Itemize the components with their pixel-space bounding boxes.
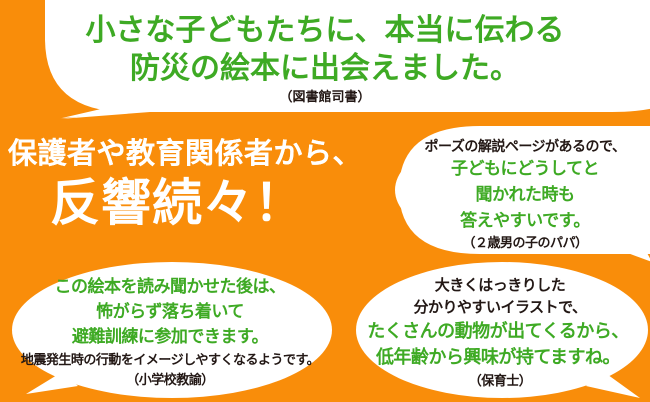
testimonial-right-line-2: 子どもにどうしてと [400,160,650,177]
testimonial-bottom-left-line-2: 怖がらず落ち着いて [10,303,330,320]
testimonial-bottom-left-line-3: 避難訓練に参加できます。 [10,328,330,345]
testimonial-right-line-3: 聞かれた時も [400,186,650,203]
testimonial-top-attribution: （図書館司書） [0,90,650,103]
testimonial-right-line-1: ポーズの解説ページがあるので、 [400,139,650,153]
testimonial-bottom-left-line-1: この絵本を読み聞かせた後は、 [10,278,330,295]
testimonial-bottom-left-attribution: （小学校教諭） [10,373,330,386]
testimonial-right-line-4: 答えやすいです。 [400,212,650,229]
testimonial-bottom-left-line-4: 地震発生時の行動をイメージしやすくなるようです。 [10,353,330,366]
testimonial-bottom-right-line-2: 分かりやすいイラストで、 [355,300,645,315]
testimonial-top-line-1: 小さな子どもたちに、本当に伝わる [0,16,650,46]
testimonial-bottom-right-line-1: 大きくはっきりした [355,278,645,293]
testimonial-bottom-right-line-3: たくさんの動物が出てくるから、 [348,322,648,340]
page-title-line-2: 反響続々！ [50,178,410,228]
testimonial-bottom-right-attribution: （保育士） [355,374,645,387]
testimonial-bottom-right-line-4: 低年齢から興味が持てますね。 [348,348,648,366]
testimonial-right-attribution: （２歳男の子のパパ） [400,236,650,249]
page-title-line-1: 保護者や教育関係者から、 [8,140,398,169]
testimonial-top-line-2: 防災の絵本に出会えました。 [0,54,650,84]
testimonial-poster: 小さな子どもたちに、本当に伝わる 防災の絵本に出会えました。 （図書館司書） 保… [0,0,650,402]
